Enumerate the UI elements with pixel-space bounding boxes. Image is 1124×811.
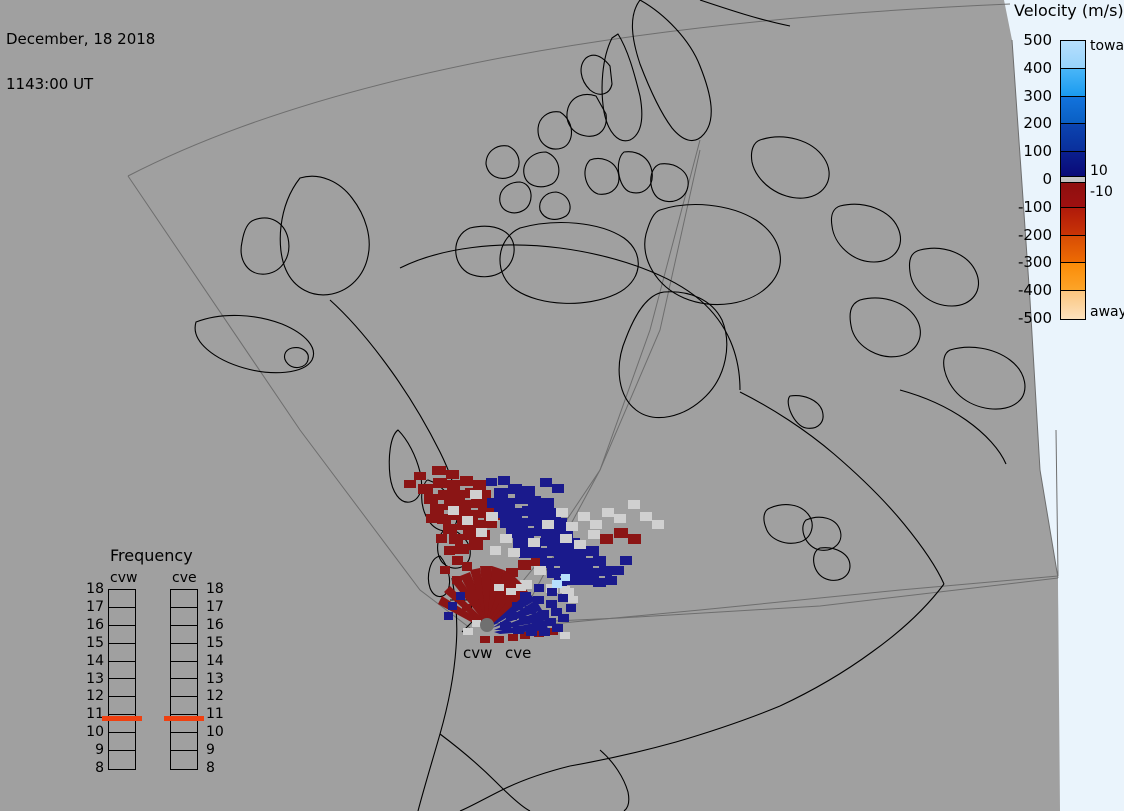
velocity-legend-title: Velocity (m/s) (1014, 1, 1124, 20)
frequency-tick-left-17: 17 (82, 599, 104, 615)
velocity-away-label: away (1090, 304, 1124, 320)
frequency-bar-cvw[interactable] (108, 589, 136, 770)
site-label-cve: cve (505, 644, 531, 662)
frequency-tick-right-10: 10 (206, 724, 228, 740)
frequency-tick-left-18: 18 (82, 581, 104, 597)
velocity-tick--100: -100 (1018, 198, 1052, 216)
frequency-tick-right-16: 16 (206, 617, 228, 633)
frequency-marker-cve (164, 716, 204, 721)
frequency-tick-right-11: 11 (206, 706, 228, 722)
velocity-band-100-10 (1061, 152, 1085, 177)
velocity-tick-500: 500 (1023, 31, 1052, 49)
frequency-segment (171, 751, 197, 769)
velocity-tick-0: 0 (1042, 170, 1052, 188)
frequency-segment (109, 751, 135, 769)
frequency-segment (109, 608, 135, 626)
frequency-tick-left-15: 15 (82, 635, 104, 651)
frequency-tick-left-13: 13 (82, 671, 104, 687)
velocity-tick-100: 100 (1023, 142, 1052, 160)
velocity-tick-200: 200 (1023, 114, 1052, 132)
site-label-cvw: cvw (463, 644, 492, 662)
frequency-segment (171, 679, 197, 697)
velocity-band--400--500 (1061, 291, 1085, 319)
velocity-tick-300: 300 (1023, 87, 1052, 105)
frequency-tick-right-12: 12 (206, 688, 228, 704)
frequency-tick-left-10: 10 (82, 724, 104, 740)
frequency-segment (109, 679, 135, 697)
frequency-bar-cve[interactable] (170, 589, 198, 770)
frequency-tick-left-16: 16 (82, 617, 104, 633)
frequency-tick-right-9: 9 (206, 742, 228, 758)
velocity-tick--300: -300 (1018, 253, 1052, 271)
frequency-tick-left-8: 8 (82, 760, 104, 776)
frequency-segment (171, 590, 197, 608)
velocity-band-300-200 (1061, 97, 1085, 125)
frequency-segment (171, 644, 197, 662)
timestamp-date: December, 18 2018 (6, 32, 155, 47)
frequency-tick-right-18: 18 (206, 581, 228, 597)
velocity-center-lower-label: -10 (1090, 184, 1113, 200)
velocity-band--100--200 (1061, 208, 1085, 236)
velocity-tick-labels: 5004003002001000-100-200-300-400-500 (1004, 40, 1056, 321)
frequency-segment (109, 662, 135, 680)
velocity-tick--400: -400 (1018, 281, 1052, 299)
frequency-tick-left-14: 14 (82, 653, 104, 669)
frequency-segment (171, 662, 197, 680)
frequency-segment (171, 733, 197, 751)
velocity-tick--200: -200 (1018, 226, 1052, 244)
timestamp-time: 1143:00 UT (6, 77, 155, 92)
timestamp: December, 18 2018 1143:00 UT (6, 2, 155, 122)
velocity-band-200-100 (1061, 124, 1085, 152)
frequency-marker-cvw (102, 716, 142, 721)
velocity-toward-label: toward (1090, 38, 1124, 54)
screenshot-root: December, 18 2018 1143:00 UT Velocity (m… (0, 0, 1124, 811)
frequency-segment (109, 697, 135, 715)
velocity-tick--500: -500 (1018, 309, 1052, 327)
frequency-tick-right-8: 8 (206, 760, 228, 776)
frequency-column-label-cve: cve (172, 570, 197, 586)
frequency-tick-right-14: 14 (206, 653, 228, 669)
frequency-segment (109, 626, 135, 644)
velocity-band--300--400 (1061, 263, 1085, 291)
frequency-tick-right-13: 13 (206, 671, 228, 687)
velocity-band--10--100 (1061, 183, 1085, 208)
frequency-tick-left-12: 12 (82, 688, 104, 704)
velocity-band-500-400 (1061, 41, 1085, 69)
frequency-tick-right-15: 15 (206, 635, 228, 651)
frequency-segment (171, 697, 197, 715)
radar-site-marker[interactable] (480, 618, 494, 632)
frequency-segment (109, 733, 135, 751)
frequency-segment (171, 626, 197, 644)
velocity-center-upper-label: 10 (1090, 163, 1108, 179)
frequency-tick-left-9: 9 (82, 742, 104, 758)
frequency-column-label-cvw: cvw (110, 570, 137, 586)
velocity-band-400-300 (1061, 69, 1085, 97)
frequency-segment (109, 644, 135, 662)
frequency-legend: Frequency cvw cve 18171615141312111098 1… (88, 546, 248, 786)
frequency-tick-left-11: 11 (82, 706, 104, 722)
frequency-segment (171, 608, 197, 626)
velocity-legend: Velocity (m/s) 5004003002001000-100-200-… (1004, 0, 1124, 336)
velocity-band--200--300 (1061, 236, 1085, 264)
frequency-tick-right-17: 17 (206, 599, 228, 615)
velocity-colorbar[interactable] (1060, 40, 1086, 320)
frequency-segment (109, 590, 135, 608)
velocity-tick-400: 400 (1023, 59, 1052, 77)
frequency-legend-title: Frequency (110, 546, 193, 565)
